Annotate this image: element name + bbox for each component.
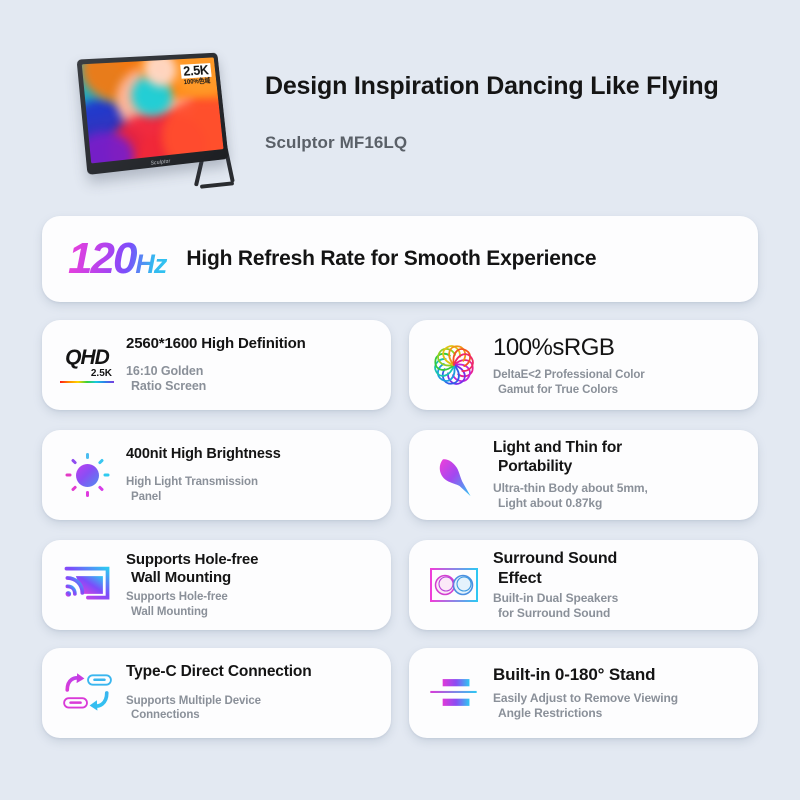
kickstand-svg <box>428 676 480 710</box>
qhd-sub-text: 2.5K <box>60 369 114 379</box>
refresh-rate-text: High Refresh Rate for Smooth Experience <box>186 247 596 271</box>
refresh-rate-number: 120 <box>68 234 135 283</box>
color-wheel-icon <box>423 334 485 396</box>
feature-desc-line1: Built-in Dual Speakers <box>493 591 618 605</box>
feature-desc-line1: DeltaE<2 Professional Color <box>493 369 645 381</box>
feature-desc: 16:10 Golden Ratio Screen <box>126 364 381 395</box>
refresh-rate-unit: Hz <box>135 249 166 279</box>
feature-desc: Ultra-thin Body about 5mm, Light about 0… <box>493 481 748 511</box>
monitor-screen: 2.5K 100%色域 <box>82 57 224 163</box>
feature-title-line2: Wall Mounting <box>126 569 381 587</box>
resolution-badge: 2.5K 100%色域 <box>180 63 212 86</box>
qhd-logo-icon: QHD 2.5K <box>56 334 118 396</box>
feature-card-wall-mounting: Supports Hole-free Wall Mounting Support… <box>42 540 391 630</box>
feature-title-line1: Surround Sound <box>493 550 617 567</box>
feature-desc-line2: Ratio Screen <box>126 379 381 395</box>
feature-card-light-thin: Light and Thin for Portability Ultra-thi… <box>409 430 758 520</box>
dual-speaker-icon <box>423 554 485 616</box>
kickstand-icon <box>423 662 485 724</box>
type-c-svg <box>61 671 113 715</box>
refresh-rate-value: 120Hz <box>68 237 170 281</box>
type-c-ports-icon <box>56 662 118 724</box>
feature-desc: Easily Adjust to Remove Viewing Angle Re… <box>493 691 748 721</box>
feature-desc: Supports Multiple Device Connections <box>126 694 381 723</box>
refresh-rate-banner: 120Hz High Refresh Rate for Smooth Exper… <box>42 216 758 302</box>
feature-title: Built-in 0-180° Stand <box>493 665 748 686</box>
feature-card-qhd: QHD 2.5K 2560*1600 High Definition 16:10… <box>42 320 391 410</box>
monitor-bezel: 2.5K 100%色域 Sculptor <box>77 53 229 175</box>
feature-desc: High Light Transmission Panel <box>126 475 381 504</box>
hero-section: 2.5K 100%色域 Sculptor Design Inspiration … <box>0 0 800 206</box>
qhd-main-text: QHD <box>65 346 109 369</box>
feature-desc-line2: Panel <box>126 490 381 504</box>
feature-desc-line1: Ultra-thin Body about 5mm, <box>493 481 648 495</box>
feature-desc-line2: for Surround Sound <box>493 606 748 621</box>
feature-card-stand: Built-in 0-180° Stand Easily Adjust to R… <box>409 648 758 738</box>
feature-title: Supports Hole-free Wall Mounting <box>126 551 381 588</box>
badge-resolution-text: 2.5K <box>180 63 212 79</box>
monitor-brand-logo: Sculptor <box>150 159 170 167</box>
feature-desc-line2: Connections <box>126 708 381 722</box>
feature-title-line2: Effect <box>493 569 748 589</box>
feature-title: Light and Thin for Portability <box>493 439 748 477</box>
feature-desc-line2: Angle Restrictions <box>493 706 748 721</box>
feature-title: Type-C Direct Connection <box>126 663 381 682</box>
screen-cast-icon <box>56 554 118 616</box>
color-wheel-svg <box>428 339 480 391</box>
feature-desc: Built-in Dual Speakers for Surround Soun… <box>493 591 748 621</box>
sun-brightness-icon <box>56 444 118 506</box>
feature-title-line1: Supports Hole-free <box>126 551 258 568</box>
kickstand-bar <box>200 181 234 189</box>
feature-title: 2560*1600 High Definition <box>126 335 381 353</box>
feature-card-srgb: 100%sRGB DeltaE<2 Professional Color Gam… <box>409 320 758 410</box>
rainbow-bar-icon <box>60 381 114 384</box>
feather-svg <box>431 452 477 498</box>
feature-card-surround-sound: Surround Sound Effect Built-in Dual Spea… <box>409 540 758 630</box>
feature-desc-line1: High Light Transmission <box>126 476 258 488</box>
page-title: Design Inspiration Dancing Like Flying <box>265 72 785 101</box>
feature-desc: Supports Hole-free Wall Mounting <box>126 590 381 619</box>
feature-desc-line2: Wall Mounting <box>126 605 381 619</box>
feature-title-line2: Portability <box>493 458 748 477</box>
feature-title: 100%sRGB <box>493 333 748 362</box>
feature-desc-line1: Supports Hole-free <box>126 591 228 603</box>
feature-title: Surround Sound Effect <box>493 549 748 588</box>
feather-icon <box>423 444 485 506</box>
feature-desc: DeltaE<2 Professional Color Gamut for Tr… <box>493 368 748 397</box>
feature-desc-line1: 16:10 Golden <box>126 364 203 378</box>
product-model: Sculptor MF16LQ <box>265 133 785 153</box>
feature-desc-line1: Easily Adjust to Remove Viewing <box>493 691 678 705</box>
feature-desc-line1: Supports Multiple Device <box>126 695 261 707</box>
portable-monitor-image: 2.5K 100%色域 Sculptor <box>74 55 264 200</box>
screen-cast-svg <box>63 564 111 606</box>
feature-card-brightness: 400nit High Brightness High Light Transm… <box>42 430 391 520</box>
feature-desc-line2: Light about 0.87kg <box>493 496 748 511</box>
feature-title-line1: Light and Thin for <box>493 439 622 456</box>
feature-title: 400nit High Brightness <box>126 446 381 464</box>
dual-speaker-svg <box>429 567 479 603</box>
feature-card-typec: Type-C Direct Connection Supports Multip… <box>42 648 391 738</box>
feature-desc-line2: Gamut for True Colors <box>493 383 748 397</box>
